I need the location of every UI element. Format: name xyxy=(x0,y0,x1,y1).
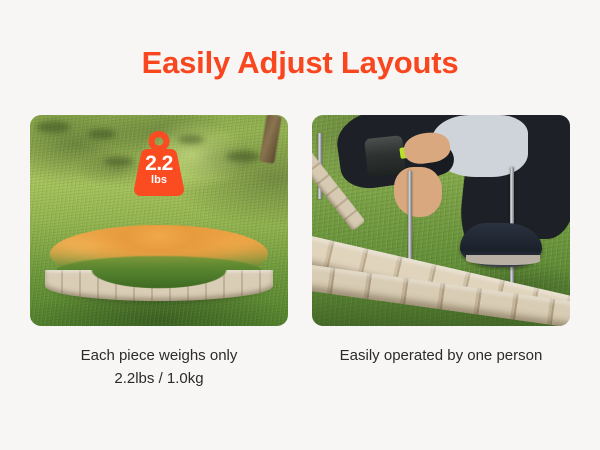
installation-panel: Easily operated by one person xyxy=(312,115,570,390)
weight-value: 2.2 xyxy=(128,153,190,174)
weight-panel: 2.2 lbs Each piece weighs only 2.2lbs / … xyxy=(30,115,288,390)
flower-blooms xyxy=(50,222,268,259)
caption-line: Easily operated by one person xyxy=(312,344,570,367)
panels-row: 2.2 lbs Each piece weighs only 2.2lbs / … xyxy=(30,115,570,390)
promo-card: Easily Adjust Layouts xyxy=(0,0,600,450)
stake-being-driven xyxy=(408,171,412,265)
shoe-sole xyxy=(466,255,540,265)
flower-bed xyxy=(45,221,272,301)
tree-shadow xyxy=(226,151,260,162)
tree-shadow xyxy=(36,121,70,133)
weight-caption: Each piece weighs only 2.2lbs / 1.0kg xyxy=(30,344,288,390)
stone-edging-curve xyxy=(45,270,272,300)
person-hand-lower xyxy=(394,167,442,217)
caption-line: 2.2lbs / 1.0kg xyxy=(30,367,288,390)
page-title: Easily Adjust Layouts xyxy=(0,44,600,82)
caption-line: Each piece weighs only xyxy=(30,344,288,367)
installation-photo xyxy=(312,115,570,326)
weight-badge: 2.2 lbs xyxy=(128,129,190,197)
installation-caption: Easily operated by one person xyxy=(312,344,570,367)
weight-unit: lbs xyxy=(128,175,190,186)
flowerbed-photo: 2.2 lbs xyxy=(30,115,288,326)
tree-shadow xyxy=(88,129,116,139)
